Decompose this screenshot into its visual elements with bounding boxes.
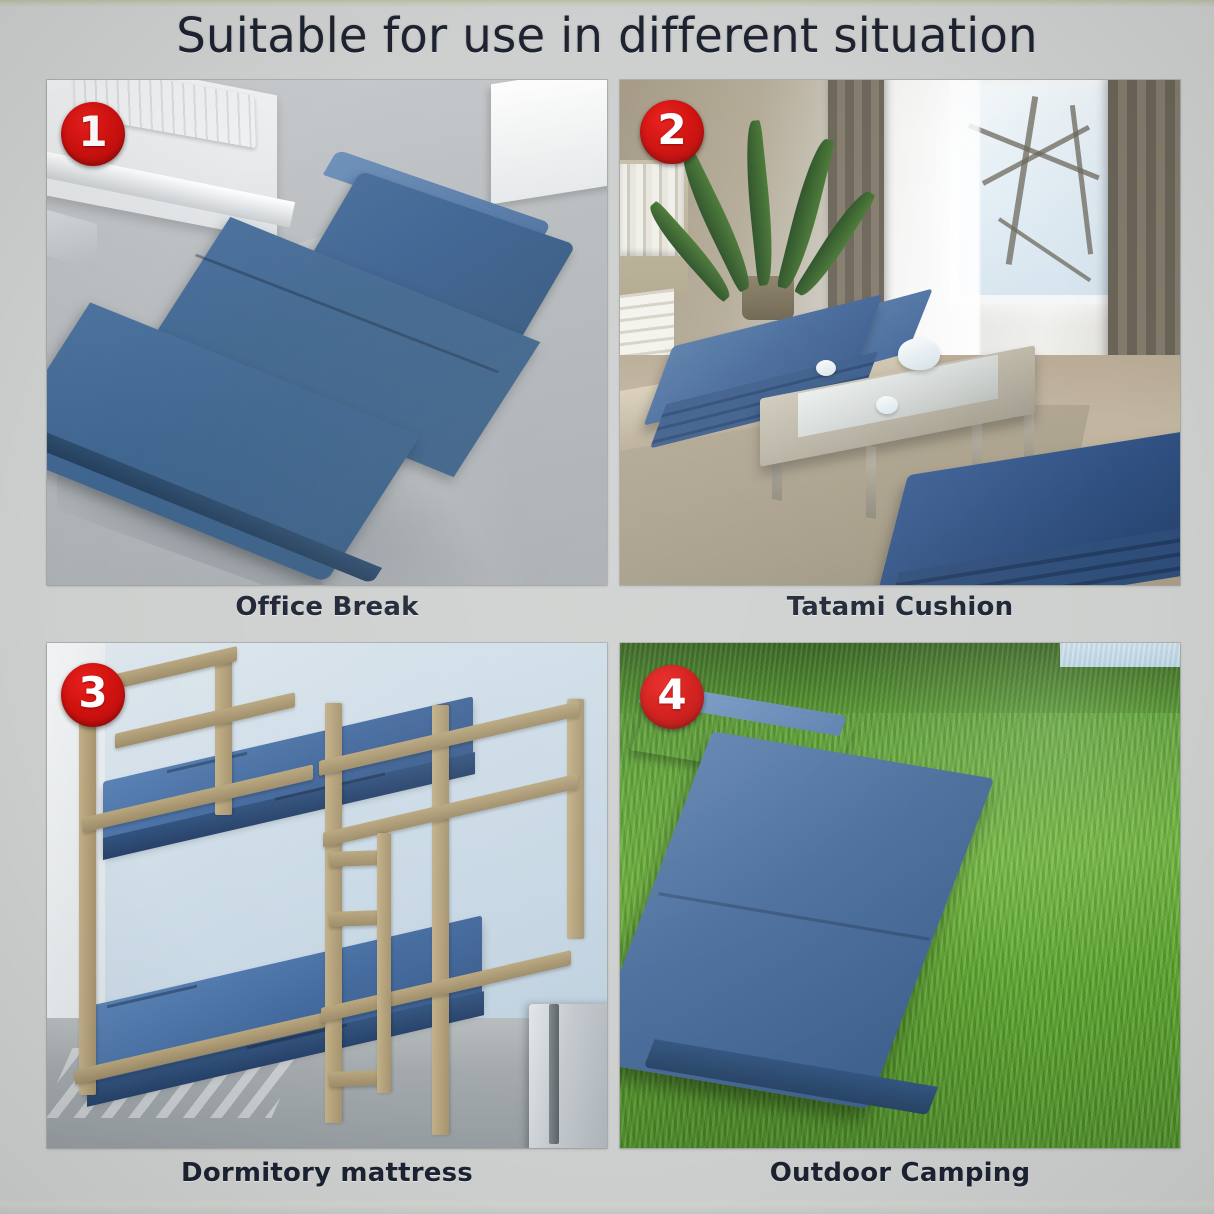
caption-dormitory-mattress: Dormitory mattress [47,1158,607,1188]
monitor [491,80,607,204]
caption-office-break: Office Break [47,592,607,622]
step-badge-4: 4 [640,665,704,729]
step-badge-1-number: 1 [78,111,107,153]
step-badge-2-number: 2 [657,109,686,151]
step-badge-3-number: 3 [78,672,107,714]
step-badge-4-number: 4 [657,674,686,716]
tea-cup [816,360,836,376]
caption-outdoor-camping: Outdoor Camping [620,1158,1180,1188]
bed-post-front-left [79,665,96,1095]
page-top-edge-strip [0,0,1214,7]
bed-post-rear-right [567,699,584,939]
panel-tatami-cushion[interactable]: 2 [620,80,1180,585]
suitcase-handle-bar [549,1004,559,1144]
table-leg [866,445,876,519]
product-infographic-poster: Suitable for use in different situation … [0,0,1214,1214]
caption-tatami-cushion: Tatami Cushion [620,592,1180,622]
page-title: Suitable for use in different situation [18,8,1196,64]
photo-tatami-cushion [620,80,1180,585]
photo-office-break [47,80,607,585]
panel-dormitory-mattress[interactable]: 3 [47,643,607,1148]
step-badge-3: 3 [61,663,125,727]
page-bottom-edge-strip [0,1198,1214,1214]
bed-post-front-right [432,705,449,1135]
ladder-rail [377,833,391,1093]
step-badge-1: 1 [61,102,125,166]
tea-cup [876,396,898,414]
step-badge-2: 2 [640,100,704,164]
teapot [898,338,940,370]
panel-office-break[interactable]: 1 [47,80,607,585]
photo-outdoor-camping [620,643,1180,1148]
metal-suitcase [529,1004,607,1148]
panel-outdoor-camping[interactable]: 4 [620,643,1180,1148]
photo-dormitory-mattress [47,643,607,1148]
